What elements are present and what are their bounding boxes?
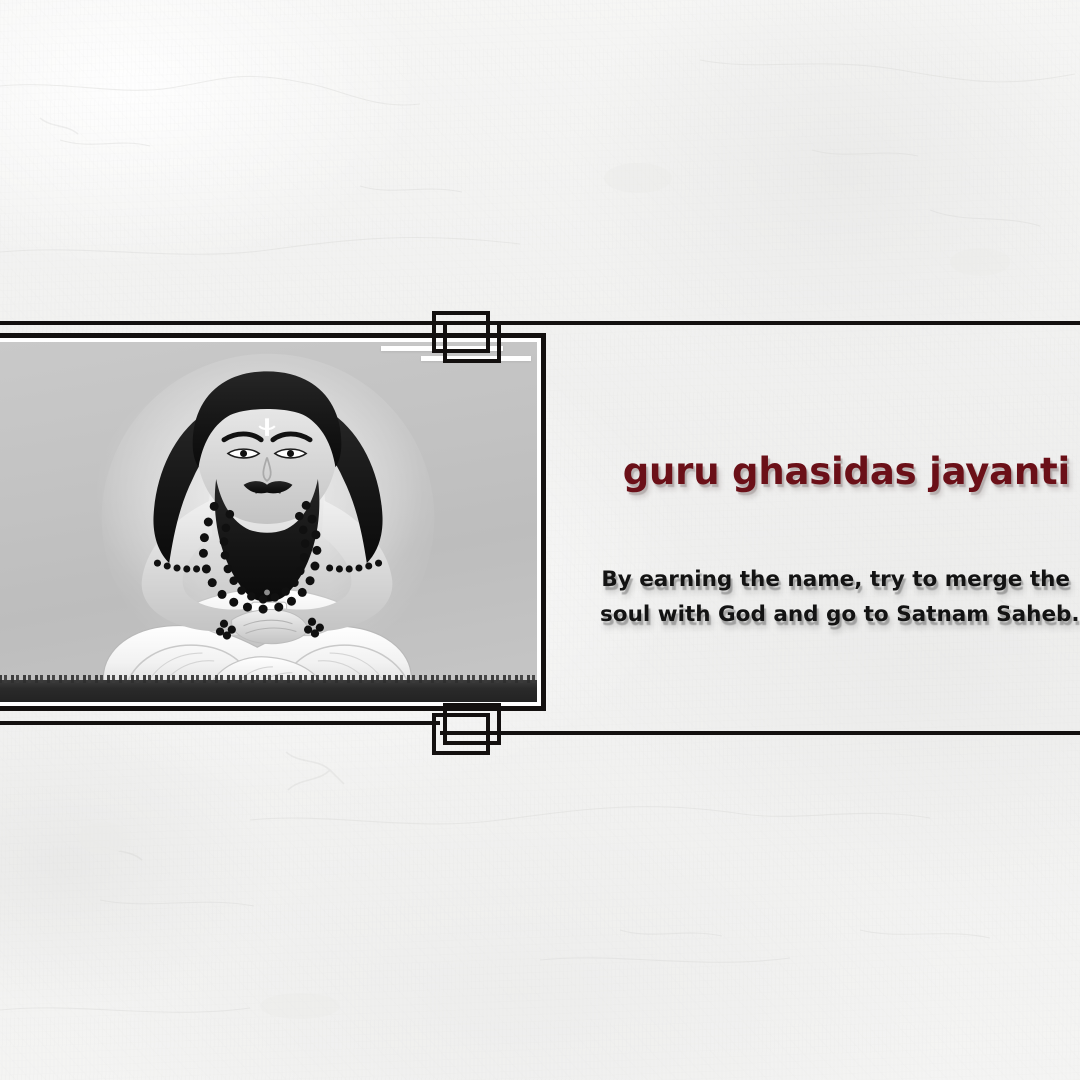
guru-ghasidas-figure-icon (0, 342, 537, 702)
quote-text: By earning the name, try to merge the so… (600, 493, 1070, 633)
page-title: guru ghasidas jayanti (600, 452, 1070, 493)
portrait-frame (0, 333, 546, 711)
frame-rule-bottom-right (440, 731, 1080, 735)
poster-canvas: guru ghasidas jayanti By earning the nam… (0, 0, 1080, 1080)
corner-motif-bottom-inner (443, 703, 501, 745)
portrait-ground (0, 680, 537, 702)
frame-rule-top-left (0, 321, 440, 325)
corner-motif-top-inner (443, 321, 501, 363)
text-column: guru ghasidas jayanti By earning the nam… (600, 452, 1070, 632)
portrait-photo (0, 342, 537, 702)
quote-line-2: soul with God and go to Satnam Saheb. (600, 598, 1070, 633)
quote-line-1: By earning the name, try to merge the (600, 563, 1070, 598)
frame-rule-bottom-left (0, 721, 440, 725)
frame-rule-top-right (440, 321, 1080, 325)
